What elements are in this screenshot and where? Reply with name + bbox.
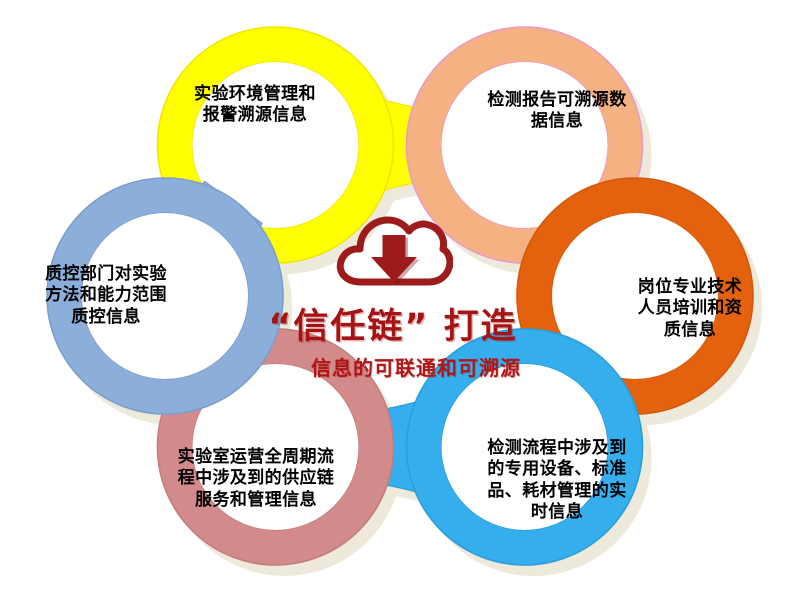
download-arrow (371, 235, 417, 282)
center-title: “信任链” 打造 (234, 298, 552, 349)
ring-interior-left (82, 213, 248, 379)
ring-interior-bottom-right (442, 364, 608, 530)
cloud-download-icon (234, 212, 552, 292)
center-subtitle: 信息的可联通和可溯源 (280, 352, 552, 381)
infographic-canvas: 实验环境管理和 报警溯源信息 检测报告可溯源数 据信息 岗位专业技术 人员培训和… (0, 0, 800, 600)
center-content: “信任链” 打造 信息的可联通和可溯源 (234, 212, 552, 382)
